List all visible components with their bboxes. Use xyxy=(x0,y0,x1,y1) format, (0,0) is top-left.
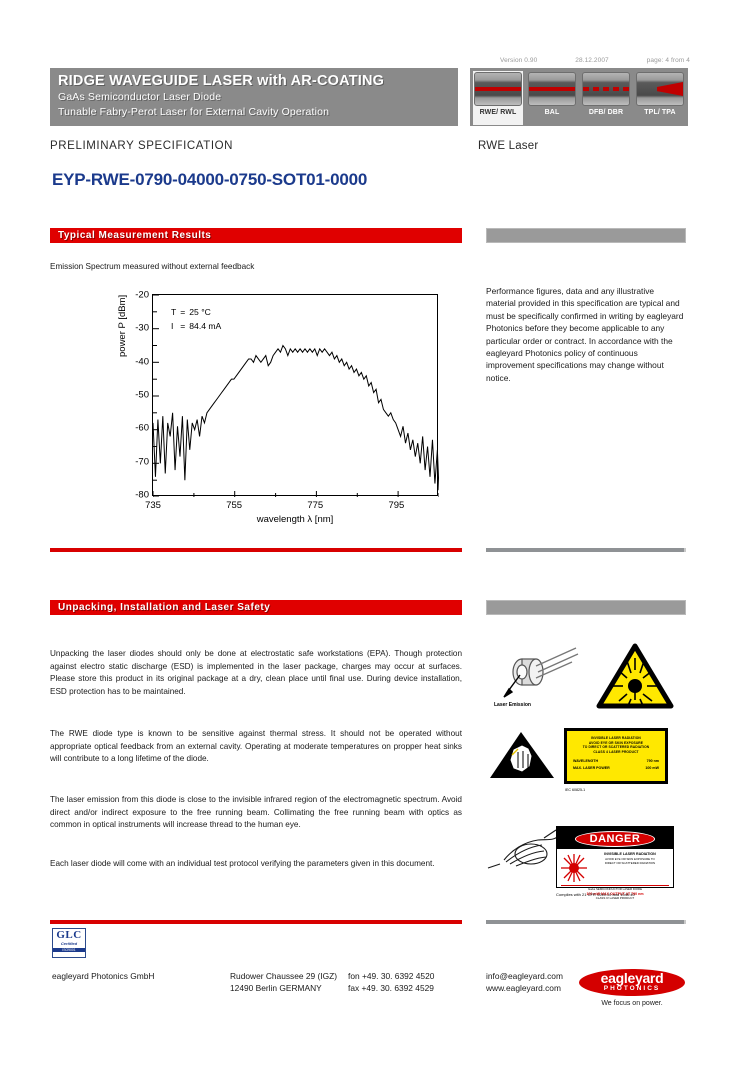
chart-x-axis-label: wavelength λ [nm] xyxy=(257,514,334,525)
safety-paragraph-3: The laser emission from this diode is cl… xyxy=(50,794,462,832)
safety-paragraph-4: Each laser diode will come with an indiv… xyxy=(50,858,462,871)
tile-label: TPL/ TPA xyxy=(644,109,675,116)
footer-fon: fon +49. 30. 6392 4520 xyxy=(348,970,468,982)
part-number: EYP-RWE-0790-04000-0750-SOT01-0000 xyxy=(52,170,367,190)
safety-paragraph-1: Unpacking the laser diodes should only b… xyxy=(50,648,462,698)
eagleyard-logo-subtitle: PHOTONICS xyxy=(579,985,685,993)
footer-address-line-1: Rudower Chaussee 29 (IGZ) xyxy=(230,970,345,982)
yl-power-val: 100 mW xyxy=(645,766,659,770)
divider-gray-1 xyxy=(486,548,686,552)
eagleyard-logo-oval: eagleyard PHOTONICS xyxy=(578,968,686,997)
glc-certified-logo: GLC Certified ISO9001 xyxy=(52,928,86,958)
preliminary-spec-label: PRELIMINARY SPECIFICATION xyxy=(50,140,233,152)
tile-label: DFB/ DBR xyxy=(589,109,623,116)
laser-chip-icon xyxy=(528,72,576,106)
y-tick: -50 xyxy=(135,390,149,401)
tile-rwe-rwl[interactable]: RWE/ RWL xyxy=(473,71,523,125)
tile-bal[interactable]: BAL xyxy=(527,72,577,124)
glc-iso-text: ISO9001 xyxy=(53,948,85,952)
banner-subtitle-2: Tunable Fabry-Perot Laser for External C… xyxy=(58,105,458,120)
page-number-label: page: 4 from 4 xyxy=(647,57,690,64)
eagleyard-logo-name: eagleyard xyxy=(579,971,685,985)
hand-beam-exposure-icon xyxy=(486,820,564,870)
header-banner: RIDGE WAVEGUIDE LASER with AR-COATING Ga… xyxy=(50,68,458,126)
version-label: Version 0.90 xyxy=(500,57,537,64)
tile-label: RWE/ RWL xyxy=(480,109,517,116)
product-family-tiles: RWE/ RWL BAL DFB/ DBR TPL/ TPA xyxy=(470,68,690,126)
section-header-measurement: Typical Measurement Results xyxy=(50,228,462,243)
laser-chip-icon xyxy=(636,72,684,106)
glc-certified-text: Certified xyxy=(53,941,85,946)
banner-title: RIDGE WAVEGUIDE LASER with AR-COATING xyxy=(58,72,458,90)
tile-dfb-dbr[interactable]: DFB/ DBR xyxy=(581,72,631,124)
danger-word: DANGER xyxy=(575,831,656,847)
footer-company-name: eagleyard Photonics GmbH xyxy=(52,970,232,982)
iec-standard-ref: IEC 60825-1 xyxy=(565,788,585,792)
yl-wavelength-val: 790 nm xyxy=(647,759,659,763)
y-tick: -70 xyxy=(135,456,149,467)
section-header-gray-measurement xyxy=(486,228,686,243)
x-tick: 775 xyxy=(307,500,323,511)
yl-power-key: MAX. LASER POWER xyxy=(573,766,610,770)
x-tick: 755 xyxy=(226,500,242,511)
fda-compliance-note: Complies with 21 CFR 1040.10 and 1040.40 xyxy=(556,892,635,897)
disclaimer-text: Performance figures, data and any illust… xyxy=(486,285,686,384)
banner-subtitle-1: GaAs Semiconductor Laser Diode xyxy=(58,90,458,105)
chart-y-axis-label: power P [dBm] xyxy=(117,295,128,357)
x-tick: 735 xyxy=(145,500,161,511)
x-tick: 795 xyxy=(388,500,404,511)
footer-fax: fax +49. 30. 6392 4529 xyxy=(348,982,468,994)
safety-paragraph-2: The RWE diode type is known to be sensit… xyxy=(50,728,462,766)
laser-hazard-triangle-icon xyxy=(596,642,674,710)
y-tick: -30 xyxy=(135,323,149,334)
tile-label: BAL xyxy=(545,109,560,116)
eagleyard-logo: eagleyard PHOTONICS We focus on power. xyxy=(578,968,686,1007)
section-header-gray-safety xyxy=(486,600,686,615)
eagleyard-tagline: We focus on power. xyxy=(578,1000,686,1007)
glc-text: GLC xyxy=(53,929,85,941)
divider-red-2 xyxy=(50,920,462,924)
y-tick: -80 xyxy=(135,490,149,501)
yl-line-4: CLASS 4 LASER PRODUCT xyxy=(571,750,661,755)
laser-family-label: RWE Laser xyxy=(478,140,538,152)
emission-spectrum-chart: power P [dBm] -20 -30 -40 -50 -60 -70 -8… xyxy=(96,288,466,520)
chart-caption: Emission Spectrum measured without exter… xyxy=(50,262,254,271)
laser-emission-caption: Laser Emission xyxy=(494,702,531,708)
section-header-safety: Unpacking, Installation and Laser Safety xyxy=(50,600,462,615)
tile-group: RWE/ RWL BAL DFB/ DBR TPL/ TPA xyxy=(470,68,688,126)
laser-chip-icon xyxy=(582,72,630,106)
footer-address-line-2: 12490 Berlin GERMANY xyxy=(230,982,345,994)
spectrum-trace xyxy=(153,295,439,497)
divider-gray-2 xyxy=(486,920,686,924)
document-meta: Version 0.90 28.12.2007 page: 4 from 4 xyxy=(500,57,690,64)
laser-diode-package-icon: Laser Emission xyxy=(492,642,587,710)
datasheet-page: Version 0.90 28.12.2007 page: 4 from 4 R… xyxy=(0,0,754,1067)
chart-plot-area: power P [dBm] -20 -30 -40 -50 -60 -70 -8… xyxy=(152,294,438,496)
y-tick: -20 xyxy=(135,290,149,301)
danger-line-3: DIRECT OR SCATTERED RADIATION xyxy=(590,861,670,866)
danger-banner: DANGER xyxy=(557,827,673,849)
yl-wavelength-key: WAVELENGTH xyxy=(573,759,598,763)
class4-laser-warning-label: INVISIBLE LASER RADIATION AVOID EYE OR S… xyxy=(564,728,668,784)
footer-address: Rudower Chaussee 29 (IGZ) 12490 Berlin G… xyxy=(230,970,345,994)
date-label: 28.12.2007 xyxy=(575,57,609,64)
divider-red-1 xyxy=(50,548,462,552)
tile-tpl-tpa[interactable]: TPL/ TPA xyxy=(635,72,685,124)
danger-laser-label: DANGER INVISIBLE LASER RADIATION xyxy=(556,826,674,888)
footer-phone: fon +49. 30. 6392 4520 fax +49. 30. 6392… xyxy=(348,970,468,994)
y-tick: -60 xyxy=(135,423,149,434)
laser-sunburst-icon xyxy=(560,852,588,884)
laser-chip-icon xyxy=(474,72,522,106)
esd-sensitive-icon xyxy=(488,728,558,783)
y-tick: -40 xyxy=(135,356,149,367)
